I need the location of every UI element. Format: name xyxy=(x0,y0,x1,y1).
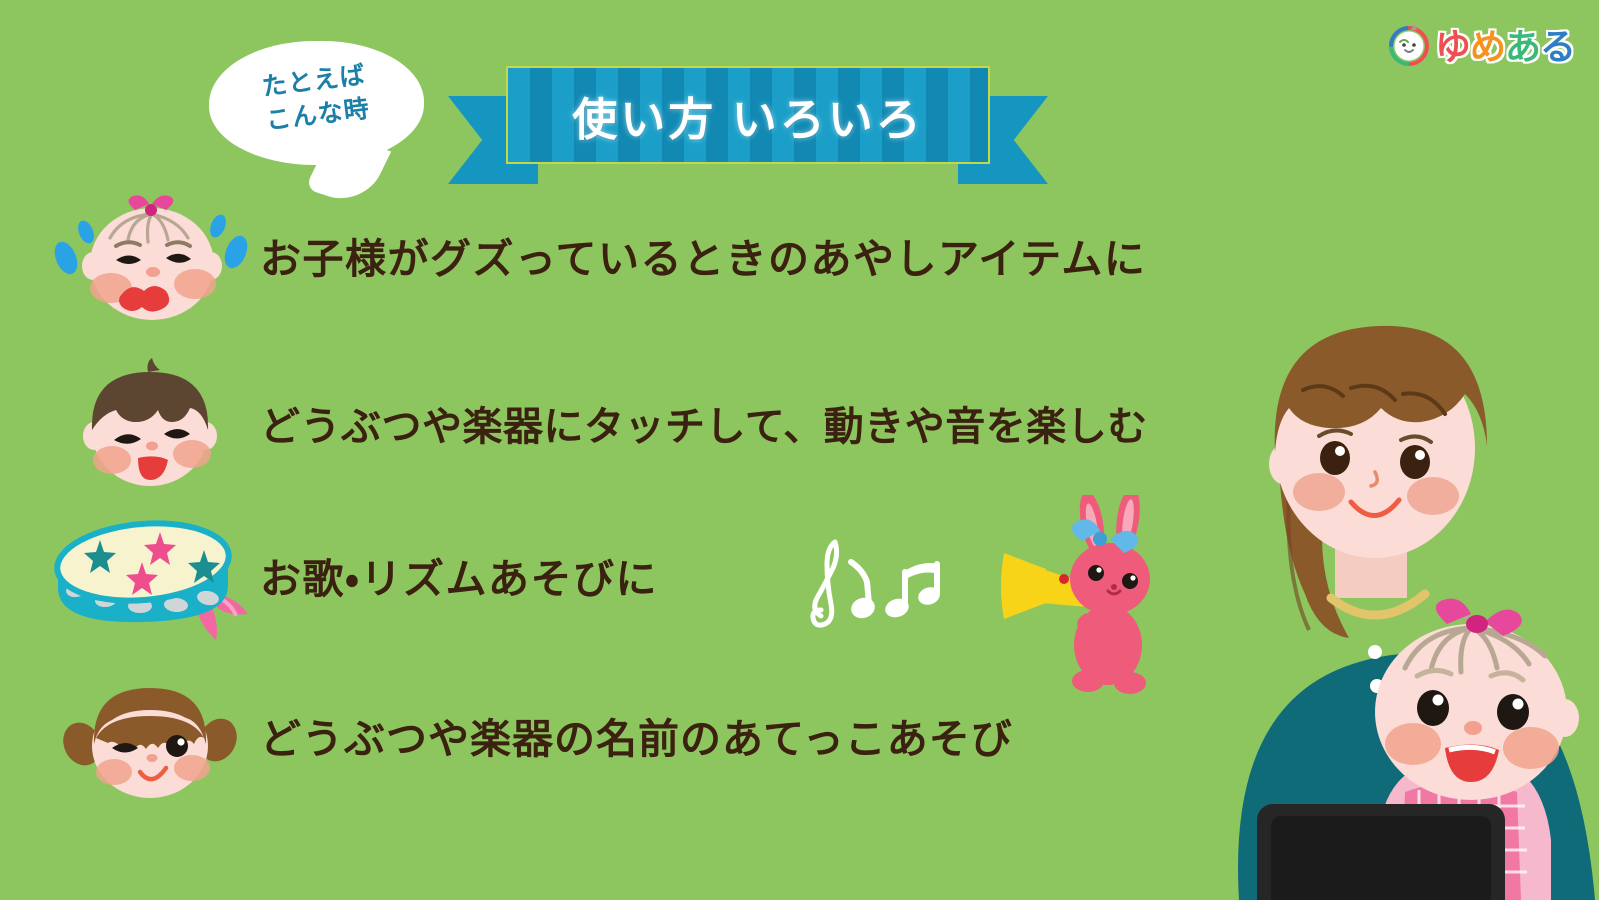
banner-title: 使い方 いろいろ xyxy=(572,83,924,148)
rabbit-with-trumpet-icon xyxy=(990,495,1180,695)
winking-girl-face-icon xyxy=(40,660,260,810)
speech-bubble-text: たとえば こんな時 xyxy=(202,28,431,177)
logo-char-3: る xyxy=(1540,18,1575,70)
crying-baby-face-icon xyxy=(40,180,260,330)
mother-and-baby-with-tablet-icon xyxy=(1179,280,1599,900)
usage-row-text: どうぶつや楽器の名前のあてっこあそび xyxy=(260,705,1013,765)
slide-canvas: ゆ め あ る たとえば こんな時 使い方 いろいろ xyxy=(0,0,1599,900)
logo-char-1: め xyxy=(1470,18,1505,70)
ribbon-band: 使い方 いろいろ xyxy=(506,66,990,164)
usage-row-text: どうぶつや楽器にタッチして、動きや音を楽しむ xyxy=(260,394,1148,452)
brand-logo: ゆ め あ る xyxy=(1387,18,1575,70)
tambourine-icon xyxy=(40,500,260,650)
speech-bubble: たとえば こんな時 xyxy=(209,41,424,165)
usage-row-text: お歌・リズムあそびに xyxy=(260,545,658,605)
smiling-boy-face-icon xyxy=(40,348,260,498)
logo-char-2: あ xyxy=(1505,18,1540,70)
banner-ribbon: 使い方 いろいろ xyxy=(448,66,1048,184)
logo-wordmark: ゆ め あ る xyxy=(1435,18,1575,70)
logo-char-0: ゆ xyxy=(1435,18,1470,70)
usage-row-text: お子様がグズっているときのあやしアイテムに xyxy=(260,225,1146,285)
usage-row: お子様がグズっているときのあやしアイテムに xyxy=(40,180,1270,330)
logo-face-circle-icon xyxy=(1387,22,1431,66)
usage-row: どうぶつや楽器にタッチして、動きや音を楽しむ xyxy=(40,348,1270,498)
music-notes-icon xyxy=(795,520,995,640)
